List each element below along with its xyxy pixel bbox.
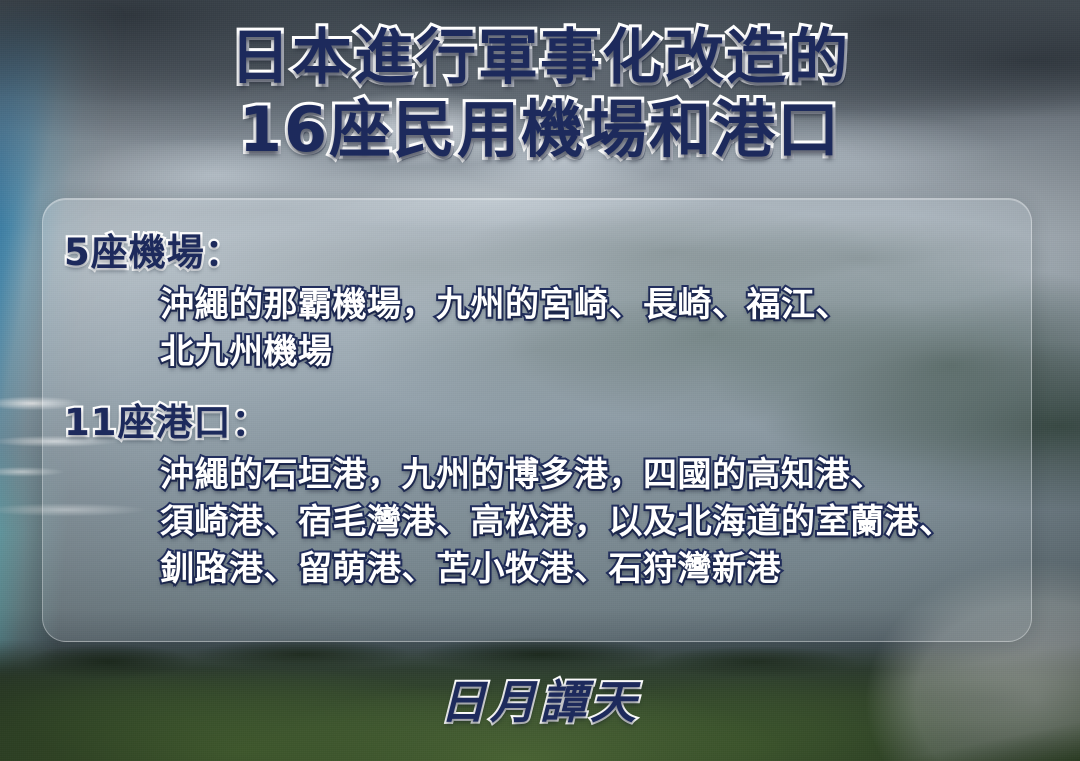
ports-list: 沖繩的石垣港，九州的博多港，四國的高知港、 須崎港、宿毛灣港、高松港，以及北海道…: [64, 452, 1006, 593]
watermark: 日月譚天: [0, 676, 1080, 728]
ports-heading: 11座港口：: [64, 394, 1006, 452]
ports-section: 11座港口： 沖繩的石垣港，九州的博多港，四國的高知港、 須崎港、宿毛灣港、高松…: [64, 394, 1006, 593]
airports-heading: 5座機場：: [64, 224, 1006, 282]
watermark-text: 日月譚天: [440, 675, 640, 729]
infographic-poster: 日本進行軍事化改造的 16座民用機場和港口 5座機場： 沖繩的那霸機場，九州的宮…: [0, 0, 1080, 761]
airports-line-1: 沖繩的那霸機場，九州的宮崎、長崎、福江、: [160, 282, 1006, 329]
title-line-2: 16座民用機場和港口: [0, 94, 1080, 166]
ports-line-1: 沖繩的石垣港，九州的博多港，四國的高知港、: [160, 452, 1006, 499]
title-line-1: 日本進行軍事化改造的: [0, 22, 1080, 94]
airports-line-2: 北九州機場: [160, 329, 1006, 376]
content-panel-body: 5座機場： 沖繩的那霸機場，九州的宮崎、長崎、福江、 北九州機場 11座港口： …: [42, 198, 1032, 642]
ports-line-2: 須崎港、宿毛灣港、高松港，以及北海道的室蘭港、: [160, 499, 1006, 546]
airports-list: 沖繩的那霸機場，九州的宮崎、長崎、福江、 北九州機場: [64, 282, 1006, 376]
poster-title: 日本進行軍事化改造的 16座民用機場和港口: [0, 22, 1080, 166]
ports-line-3: 釧路港、留萌港、苫小牧港、石狩灣新港: [160, 546, 1006, 593]
airports-section: 5座機場： 沖繩的那霸機場，九州的宮崎、長崎、福江、 北九州機場: [64, 224, 1006, 376]
